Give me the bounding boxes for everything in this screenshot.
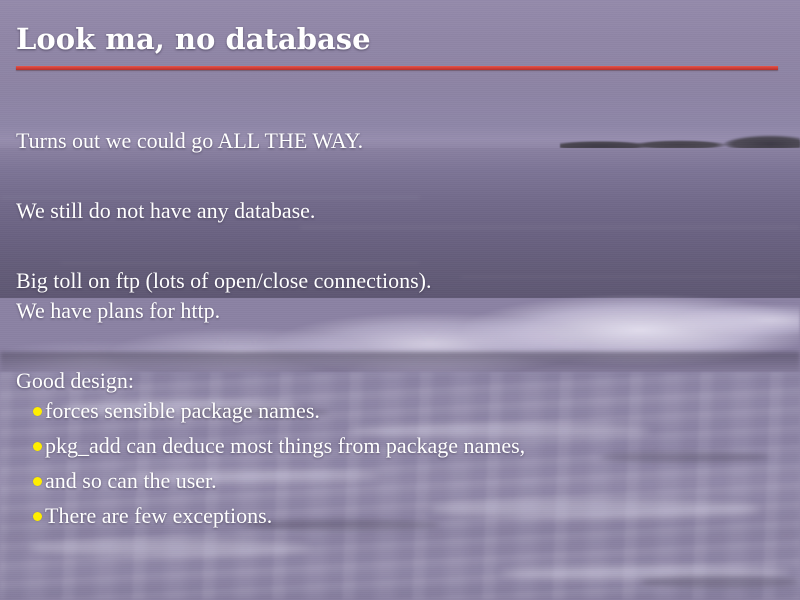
paragraph-spacer	[16, 226, 786, 266]
list-item-label: pkg_add can deduce most things from pack…	[45, 433, 525, 458]
body-paragraph-1: Turns out we could go ALL THE WAY.	[16, 126, 786, 156]
bullet-dot-icon	[33, 442, 42, 451]
paragraph-spacer	[16, 156, 786, 196]
slide-body: Turns out we could go ALL THE WAY. We st…	[16, 126, 786, 536]
body-paragraph-2: We still do not have any database.	[16, 196, 786, 226]
list-item-label: forces sensible package names.	[45, 398, 320, 423]
bullet-dot-icon	[33, 477, 42, 486]
title-divider-rule	[16, 66, 778, 70]
bullet-dot-icon	[33, 512, 42, 521]
bullet-list: forces sensible package names. pkg_add c…	[16, 396, 786, 536]
list-item-label: There are few exceptions.	[45, 503, 272, 528]
list-item: forces sensible package names.	[16, 396, 786, 431]
body-paragraph-5: Good design:	[16, 366, 786, 396]
body-paragraph-4: We have plans for http.	[16, 296, 786, 326]
list-item: pkg_add can deduce most things from pack…	[16, 431, 786, 466]
slide-title: Look ma, no database	[16, 22, 371, 56]
list-item: There are few exceptions.	[16, 501, 786, 536]
body-paragraph-3: Big toll on ftp (lots of open/close conn…	[16, 266, 786, 296]
list-item: and so can the user.	[16, 466, 786, 501]
paragraph-spacer	[16, 326, 786, 366]
slide-content: Look ma, no database Turns out we could …	[0, 0, 800, 600]
presentation-slide: Look ma, no database Turns out we could …	[0, 0, 800, 600]
list-item-label: and so can the user.	[45, 468, 217, 493]
bullet-dot-icon	[33, 407, 42, 416]
